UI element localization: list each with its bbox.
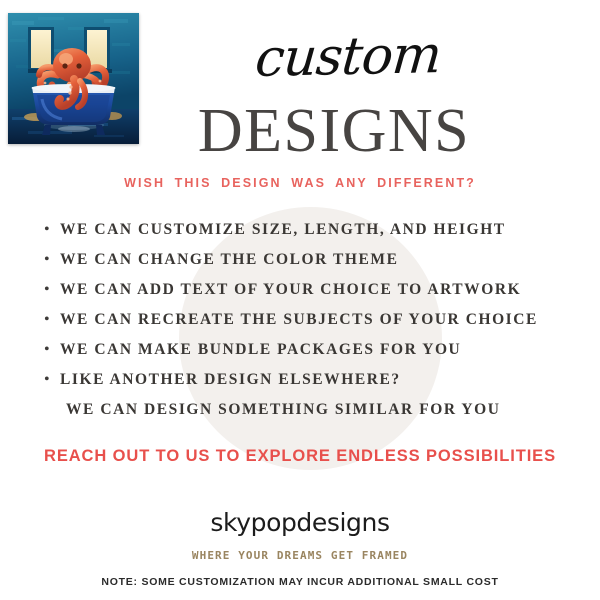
- list-item: • WE CAN MAKE BUNDLE PACKAGES FOR YOU: [44, 335, 589, 365]
- list-item: • WE CAN CHANGE THE COLOR THEME: [44, 245, 589, 275]
- bullet-dot-icon: •: [44, 365, 60, 395]
- list-item-label: WE CAN CHANGE THE COLOR THEME: [60, 245, 589, 275]
- call-to-action-text: REACH OUT TO US TO EXPLORE ENDLESS POSSI…: [0, 447, 600, 466]
- list-item: • WE CAN CUSTOMIZE SIZE, LENGTH, AND HEI…: [44, 215, 589, 245]
- list-item-label: WE CAN CUSTOMIZE SIZE, LENGTH, AND HEIGH…: [60, 215, 589, 245]
- feature-list: • WE CAN CUSTOMIZE SIZE, LENGTH, AND HEI…: [44, 215, 589, 425]
- artwork-thumbnail[interactable]: [8, 13, 139, 144]
- octopus-in-bathtub-image: [8, 13, 139, 144]
- list-item-label: WE CAN ADD TEXT OF YOUR CHOICE TO ARTWOR…: [60, 275, 589, 305]
- bullet-dot-icon: •: [44, 275, 60, 305]
- bullet-dot-icon: •: [44, 245, 60, 275]
- bullet-dot-icon: •: [44, 335, 60, 365]
- list-item: • LIKE ANOTHER DESIGN ELSEWHERE?: [44, 365, 589, 395]
- subtitle: WISH THIS DESIGN WAS ANY DIFFERENT?: [0, 176, 600, 190]
- list-item-continuation: WE CAN DESIGN SOMETHING SIMILAR FOR YOU: [44, 395, 589, 425]
- bullet-dot-icon: •: [44, 215, 60, 245]
- list-item-label: WE CAN DESIGN SOMETHING SIMILAR FOR YOU: [60, 395, 589, 425]
- list-item-label: LIKE ANOTHER DESIGN ELSEWHERE?: [60, 365, 589, 395]
- brand-tagline: WHERE YOUR DREAMS GET FRAMED: [0, 549, 600, 562]
- bullet-dot-icon: •: [44, 305, 60, 335]
- list-item-label: WE CAN RECREATE THE SUBJECTS OF YOUR CHO…: [60, 305, 589, 335]
- list-item: • WE CAN RECREATE THE SUBJECTS OF YOUR C…: [44, 305, 589, 335]
- footer-note: NOTE: SOME CUSTOMIZATION MAY INCUR ADDIT…: [0, 576, 600, 588]
- list-item: • WE CAN ADD TEXT OF YOUR CHOICE TO ARTW…: [44, 275, 589, 305]
- promo-poster: custom DESIGNS WISH THIS DESIGN WAS ANY …: [0, 0, 600, 600]
- list-item-label: WE CAN MAKE BUNDLE PACKAGES FOR YOU: [60, 335, 589, 365]
- brand-logo-text: skypopdesigns: [0, 508, 600, 537]
